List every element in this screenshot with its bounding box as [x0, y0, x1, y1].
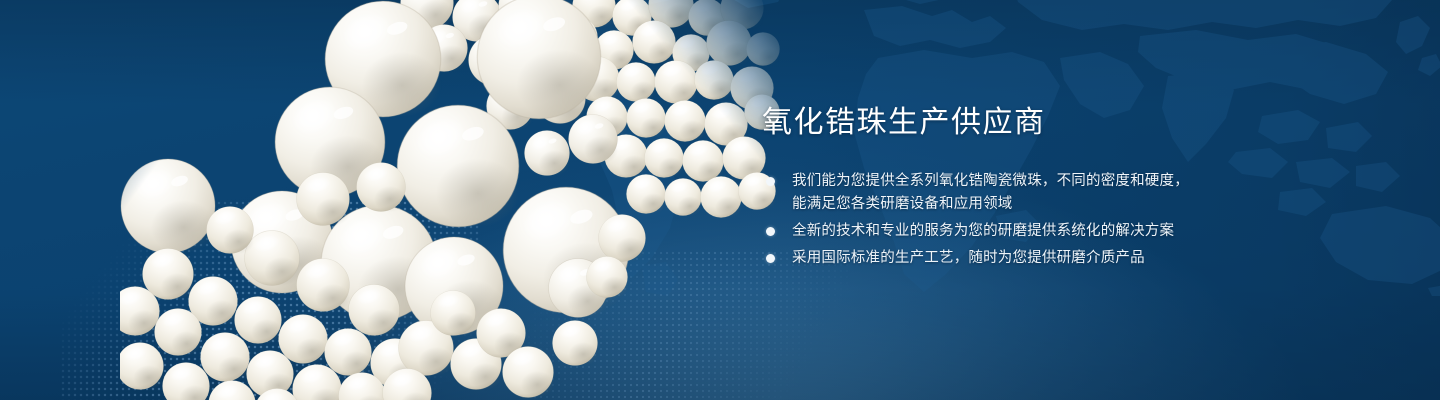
- banner-copy: 氧化锆珠生产供应商 我们能为您提供全系列氧化锆陶瓷微珠，不同的密度和硬度， 能满…: [762, 104, 1382, 270]
- page-title: 氧化锆珠生产供应商: [762, 104, 1382, 142]
- hero-banner: 氧化锆珠生产供应商 我们能为您提供全系列氧化锆陶瓷微珠，不同的密度和硬度， 能满…: [0, 0, 1440, 400]
- bullet-dot-icon: [766, 227, 775, 236]
- bullet-dot-icon: [766, 177, 775, 186]
- feature-list: 我们能为您提供全系列氧化锆陶瓷微珠，不同的密度和硬度， 能满足您各类研磨设备和应…: [762, 170, 1382, 270]
- zirconia-beads-product-image: [120, 0, 780, 400]
- bullet-dot-icon: [766, 254, 775, 263]
- list-item: 全新的技术和专业的服务为您的研磨提供系统化的解决方案: [762, 220, 1382, 243]
- list-item-line: 全新的技术和专业的服务为您的研磨提供系统化的解决方案: [792, 220, 1382, 243]
- list-item: 采用国际标准的生产工艺，随时为您提供研磨介质产品: [762, 247, 1382, 270]
- list-item-line: 能满足您各类研磨设备和应用领域: [792, 193, 1382, 216]
- list-item: 我们能为您提供全系列氧化锆陶瓷微珠，不同的密度和硬度， 能满足您各类研磨设备和应…: [762, 170, 1382, 216]
- list-item-line: 采用国际标准的生产工艺，随时为您提供研磨介质产品: [792, 247, 1382, 270]
- list-item-line: 我们能为您提供全系列氧化锆陶瓷微珠，不同的密度和硬度，: [792, 170, 1382, 193]
